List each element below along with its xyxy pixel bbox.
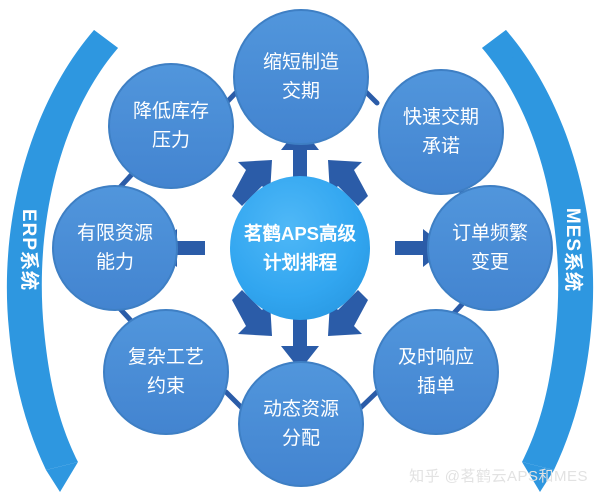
node-bottom[interactable]: 动态资源 分配 [239,362,363,486]
node-bottom-left-line2: 约束 [147,375,185,397]
node-left-line1: 有限资源 [77,222,153,244]
center-hub-line1: 茗鹤APS高级 [244,223,357,244]
node-bottom-left[interactable]: 复杂工艺 约束 [104,310,228,434]
node-top-left[interactable]: 降低库存 压力 [109,64,233,188]
node-top[interactable]: 缩短制造 交期 [234,10,368,144]
center-hub[interactable]: 茗鹤APS高级 计划排程 [230,176,370,320]
diagram-canvas: ERP系统 MES系统 [0,0,600,494]
node-top-line1: 缩短制造 [263,51,339,73]
node-right-line1: 订单频繁 [452,222,528,244]
center-hub-line2: 计划排程 [263,252,338,273]
node-top-line2: 交期 [282,80,320,102]
watermark-text: 知乎 @茗鹤云APS和MES [409,465,588,486]
node-top-right-line1: 快速交期 [403,106,479,128]
mes-arc-label: MES系统 [562,208,585,292]
node-bottom-right-line2: 插单 [417,375,455,397]
node-top-right-line2: 承诺 [422,135,460,157]
node-bottom-left-line1: 复杂工艺 [128,346,204,368]
node-left-line2: 能力 [96,251,134,273]
node-top-left-line1: 降低库存 [133,100,209,122]
node-right-line2: 变更 [471,251,509,273]
erp-arc-label: ERP系统 [18,209,41,291]
node-top-right[interactable]: 快速交期 承诺 [379,70,503,194]
node-bottom-line1: 动态资源 [263,398,339,420]
node-bottom-right[interactable]: 及时响应 插单 [374,310,498,434]
node-top-left-line2: 压力 [152,129,190,151]
node-bottom-line2: 分配 [282,427,320,449]
radial-diagram: ERP系统 MES系统 [0,0,600,494]
node-left[interactable]: 有限资源 能力 [53,186,177,310]
node-bottom-right-line1: 及时响应 [398,346,474,368]
node-right[interactable]: 订单频繁 变更 [428,186,552,310]
